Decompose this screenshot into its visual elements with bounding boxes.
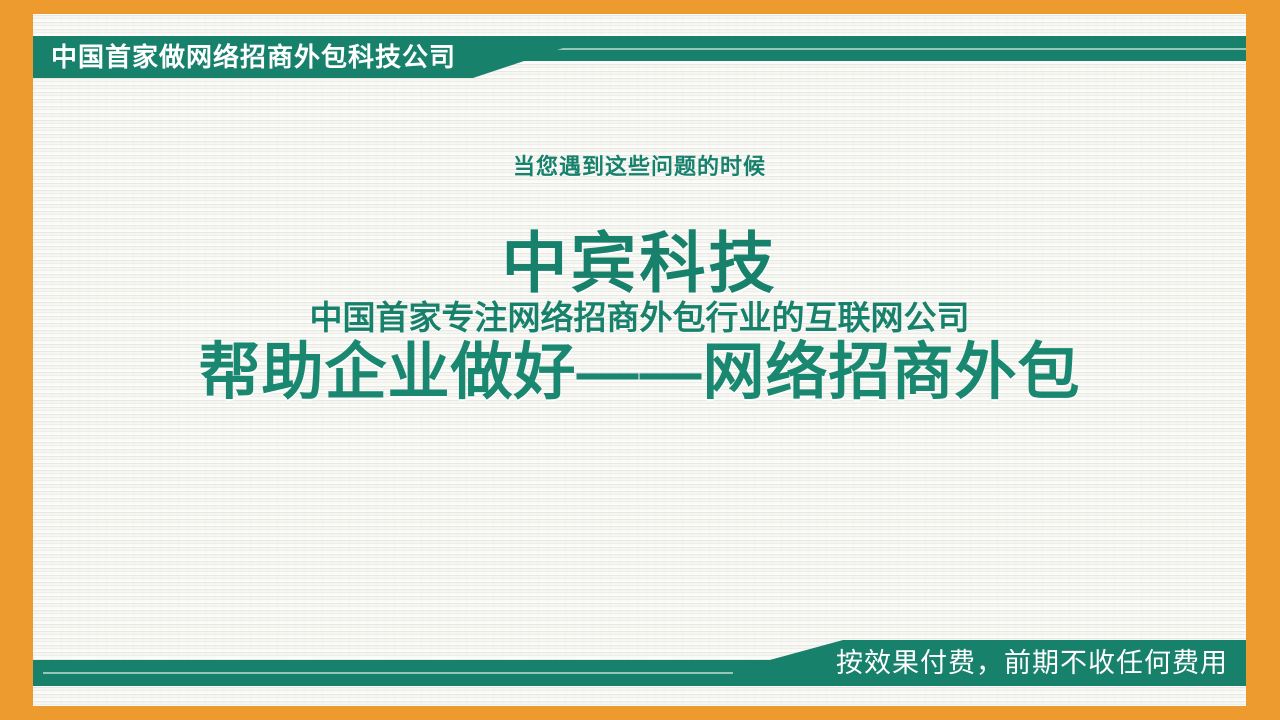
eyebrow-text: 当您遇到这些问题的时候	[33, 150, 1246, 184]
header-divider-rule	[533, 48, 1246, 50]
footer-divider-rule	[43, 672, 755, 674]
tagline-text: 中国首家专注网络招商外包行业的互联网公司	[33, 298, 1246, 338]
footer-banner: 按效果付费，前期不收任何费用	[33, 640, 1246, 688]
footer-text-block: 按效果付费，前期不收任何费用	[733, 640, 1246, 686]
header-title-block: 中国首家做网络招商外包科技公司	[33, 36, 563, 78]
headline-text: 帮助企业做好——网络招商外包	[33, 336, 1246, 410]
footer-text: 按效果付费，前期不收任何费用	[836, 640, 1228, 686]
slide-content: 当您遇到这些问题的时候 中宾科技 中国首家专注网络招商外包行业的互联网公司 帮助…	[33, 150, 1246, 410]
brand-name: 中宾科技	[33, 222, 1246, 304]
header-banner: 中国首家做网络招商外包科技公司	[33, 36, 1246, 78]
presentation-slide: 中国首家做网络招商外包科技公司 当您遇到这些问题的时候 中宾科技 中国首家专注网…	[0, 0, 1280, 720]
header-title: 中国首家做网络招商外包科技公司	[51, 36, 456, 78]
